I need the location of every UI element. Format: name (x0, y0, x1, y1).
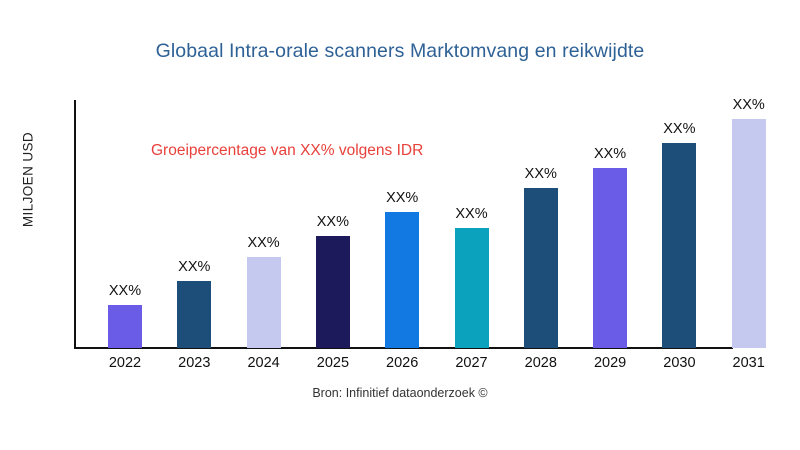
bar-2028[interactable] (524, 188, 558, 348)
x-tick-2022: 2022 (95, 355, 155, 371)
x-tick-2025: 2025 (303, 355, 363, 371)
bar-value-label-2027: XX% (442, 206, 502, 222)
bar-2025[interactable] (316, 236, 350, 348)
plot-area: XX%2022XX%2023XX%2024XX%2025XX%2026XX%20… (0, 0, 800, 450)
x-tick-2028: 2028 (511, 355, 571, 371)
bar-value-label-2022: XX% (95, 283, 155, 299)
bar-chart: Globaal Intra-orale scanners Marktomvang… (0, 0, 800, 450)
bar-2022[interactable] (108, 305, 142, 348)
bar-2027[interactable] (455, 228, 489, 348)
x-tick-2023: 2023 (164, 355, 224, 371)
x-tick-2029: 2029 (580, 355, 640, 371)
x-tick-2027: 2027 (442, 355, 502, 371)
bar-2024[interactable] (247, 257, 281, 348)
bar-2029[interactable] (593, 168, 627, 348)
x-tick-2031: 2031 (719, 355, 779, 371)
x-tick-2026: 2026 (372, 355, 432, 371)
x-tick-2030: 2030 (649, 355, 709, 371)
bar-value-label-2031: XX% (719, 97, 779, 113)
bar-value-label-2029: XX% (580, 146, 640, 162)
bar-2023[interactable] (177, 281, 211, 348)
bar-value-label-2026: XX% (372, 190, 432, 206)
source-note: Bron: Infinitief dataonderzoek © (0, 386, 800, 400)
bar-2026[interactable] (385, 212, 419, 348)
bar-value-label-2024: XX% (234, 235, 294, 251)
bar-value-label-2028: XX% (511, 166, 571, 182)
bar-value-label-2025: XX% (303, 214, 363, 230)
x-tick-2024: 2024 (234, 355, 294, 371)
bar-value-label-2023: XX% (164, 259, 224, 275)
bar-value-label-2030: XX% (649, 121, 709, 137)
bar-2030[interactable] (662, 143, 696, 348)
bar-2031[interactable] (732, 119, 766, 348)
